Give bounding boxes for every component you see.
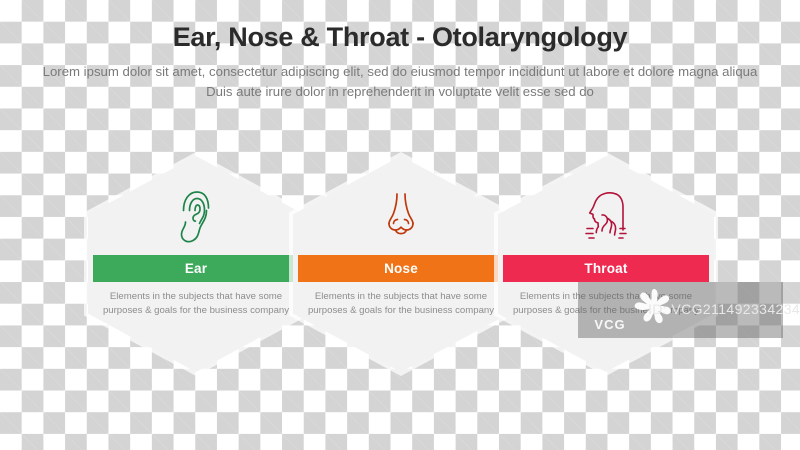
ear-icon (84, 182, 308, 250)
nose-icon (289, 182, 513, 250)
infographic-canvas: Ear, Nose & Throat - Otolaryngology Lore… (0, 0, 800, 450)
throat-icon (494, 182, 718, 250)
card-throat[interactable]: Throat Elements in the subjects that hav… (494, 152, 718, 376)
card-description: Elements in the subjects that have some … (98, 290, 294, 317)
card-description: Elements in the subjects that have some … (303, 290, 499, 317)
page-title: Ear, Nose & Throat - Otolaryngology (0, 22, 800, 53)
card-label: Ear (185, 261, 207, 276)
page-subtitle: Lorem ipsum dolor sit amet, consectetur … (40, 62, 760, 102)
card-ear[interactable]: Ear Elements in the subjects that have s… (84, 152, 308, 376)
label-band-throat: Throat (503, 255, 709, 282)
label-band-ear: Ear (93, 255, 299, 282)
card-label: Throat (584, 261, 627, 276)
card-label: Nose (384, 261, 418, 276)
label-band-nose: Nose (298, 255, 504, 282)
card-nose[interactable]: Nose Elements in the subjects that have … (289, 152, 513, 376)
watermark-brand: VCG (589, 290, 631, 332)
watermark-id: ID: VCG211492334234 (648, 301, 800, 317)
